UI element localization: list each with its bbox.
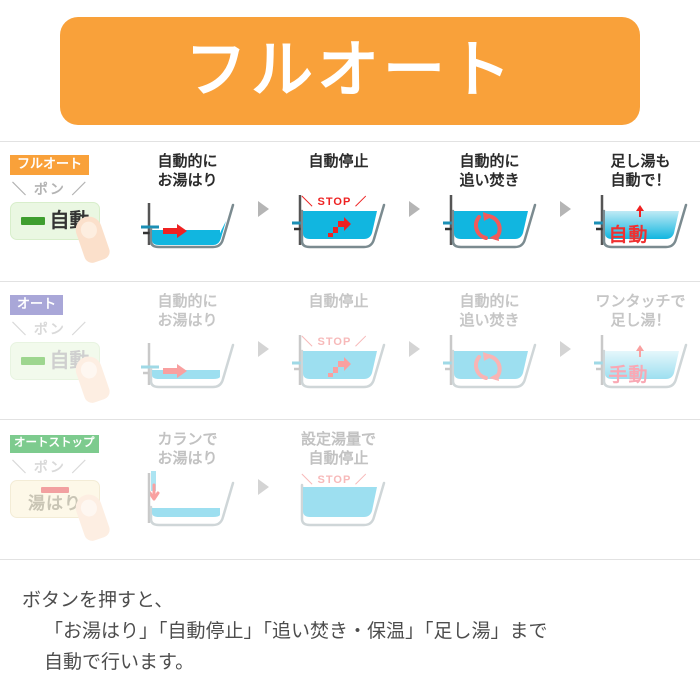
- indicator-bar-icon: [41, 487, 69, 493]
- press-text-auto-stop: ＼ ポン ／: [10, 457, 125, 477]
- footer-note: ボタンを押すと、 「お湯はり」「自動停止」「追い焚き・保温」「足し湯」まで 自動…: [22, 586, 682, 678]
- bathtub-refill: 自動: [582, 193, 700, 255]
- badge-full-auto: フルオート: [10, 155, 89, 175]
- header-banner: フルオート: [60, 17, 640, 125]
- auto-button-auto[interactable]: 自動: [10, 342, 100, 380]
- step-arrow-1: [250, 479, 276, 495]
- bathtub-faucet: [129, 471, 247, 533]
- finger-icon: [72, 491, 112, 543]
- step-caption: 自動停止: [308, 293, 368, 331]
- step-fill: 自動的に お湯はり: [125, 281, 250, 395]
- step-arrow-2: [401, 341, 427, 357]
- footer-line-3: 自動で行います。: [22, 648, 682, 679]
- steps-auto-stop: カランで お湯はり 設定湯量で 自動停止: [125, 419, 700, 533]
- step-reheat: 自動的に 追い焚き: [427, 281, 552, 395]
- reheat-loop-icon: [431, 193, 549, 255]
- stop-plain-icon: [280, 471, 398, 533]
- control-cell-full-auto: フルオート ＼ ポン ／ 自動: [0, 141, 125, 240]
- header: フルオート: [0, 0, 700, 141]
- step-caption: 自動的に お湯はり: [157, 293, 217, 331]
- bathtub-stop: ＼ STOP ／: [280, 333, 398, 395]
- step-caption: 自動停止: [308, 153, 368, 191]
- indicator-bar-icon: [21, 357, 45, 365]
- finger-icon: [72, 353, 112, 405]
- reheat-loop-icon: [431, 333, 549, 395]
- step-fill: 自動的に お湯はり: [125, 141, 250, 255]
- bathtub-fill: [129, 333, 247, 395]
- page-root: フルオート フルオート ＼ ポン ／ 自動 自動的に お湯はり: [0, 0, 700, 700]
- fill-arrow-icon: [129, 333, 247, 395]
- step-faucet-fill: カランで お湯はり: [125, 419, 250, 533]
- row-auto-stop: オートストップ ＼ ポン ／ 湯はり カランで お湯はり: [0, 419, 700, 559]
- step-auto-stop-level: 設定湯量で 自動停止 ＼ STOP ／: [276, 419, 401, 533]
- step-caption: 自動的に 追い焚き: [459, 293, 519, 331]
- yuhari-button[interactable]: 湯はり: [10, 480, 100, 518]
- bathtub-stop: ＼ STOP ／: [280, 193, 398, 255]
- page-title: フルオート: [185, 40, 515, 102]
- stop-arrow-icon: [280, 193, 398, 255]
- bathtub-refill: 手動: [582, 333, 700, 395]
- control-cell-auto: オート ＼ ポン ／ 自動: [0, 281, 125, 380]
- step-caption: 自動的に 追い焚き: [459, 153, 519, 191]
- divider-4: [0, 559, 700, 560]
- bathtub-reheat: [431, 193, 549, 255]
- finger-icon: [72, 213, 112, 265]
- refill-up-icon: [582, 333, 700, 395]
- steps-full-auto: 自動的に お湯はり 自動停止: [125, 141, 700, 255]
- step-arrow-1: [250, 201, 276, 217]
- step-caption: 足し湯も 自動で！: [610, 153, 670, 191]
- step-arrow-3: [552, 341, 578, 357]
- press-text-full-auto: ＼ ポン ／: [10, 179, 125, 199]
- auto-button-full-auto[interactable]: 自動: [10, 202, 100, 240]
- step-caption: 設定湯量で 自動停止: [301, 431, 376, 469]
- bathtub-reheat: [431, 333, 549, 395]
- badge-auto-stop: オートストップ: [10, 435, 99, 453]
- yuhari-button-label: 湯はり: [28, 495, 82, 512]
- bathtub-stop-level: ＼ STOP ／: [280, 471, 398, 533]
- press-text-auto: ＼ ポン ／: [10, 319, 125, 339]
- refill-up-icon: [582, 193, 700, 255]
- faucet-icon: [129, 471, 247, 533]
- step-refill: 足し湯も 自動で！: [578, 141, 700, 255]
- step-arrow-3: [552, 201, 578, 217]
- step-reheat: 自動的に 追い焚き: [427, 141, 552, 255]
- bathtub-fill: [129, 193, 247, 255]
- row-auto: オート ＼ ポン ／ 自動 自動的に お湯はり: [0, 281, 700, 419]
- footer-line-2: 「お湯はり」「自動停止」「追い焚き・保温」「足し湯」まで: [22, 617, 682, 648]
- step-caption: カランで お湯はり: [157, 431, 217, 469]
- step-refill: ワンタッチで 足し湯！: [578, 281, 700, 395]
- step-arrow-1: [250, 341, 276, 357]
- indicator-bar-icon: [21, 217, 45, 225]
- steps-auto: 自動的に お湯はり 自動停止: [125, 281, 700, 395]
- footer-line-1: ボタンを押すと、: [22, 586, 682, 617]
- step-arrow-2: [401, 201, 427, 217]
- step-caption: 自動的に お湯はり: [157, 153, 217, 191]
- step-caption: ワンタッチで 足し湯！: [595, 293, 685, 331]
- control-cell-auto-stop: オートストップ ＼ ポン ／ 湯はり: [0, 419, 125, 518]
- fill-arrow-icon: [129, 193, 247, 255]
- stop-arrow-icon: [280, 333, 398, 395]
- badge-auto: オート: [10, 295, 63, 315]
- step-auto-stop: 自動停止 ＼ STOP ／: [276, 141, 401, 255]
- row-full-auto: フルオート ＼ ポン ／ 自動 自動的に お湯はり: [0, 141, 700, 281]
- step-auto-stop: 自動停止 ＼ STOP ／: [276, 281, 401, 395]
